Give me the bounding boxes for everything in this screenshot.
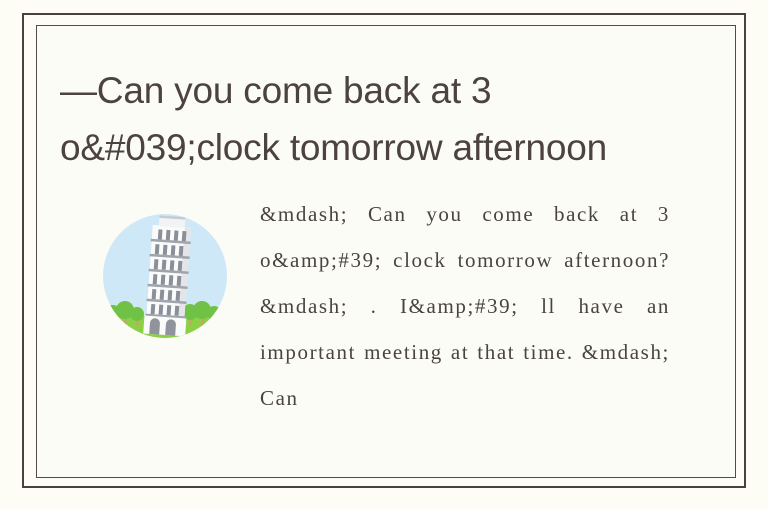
page-root: —Can you come back at 3 o&#039;clock tom… <box>0 0 768 510</box>
page-title: —Can you come back at 3 o&#039;clock tom… <box>60 62 708 176</box>
card-content: —Can you come back at 3 o&#039;clock tom… <box>36 25 736 478</box>
leaning-tower-of-pisa-illustration <box>100 198 230 353</box>
article-body-text: &mdash; Can you come back at 3 o&amp;#39… <box>260 191 670 421</box>
